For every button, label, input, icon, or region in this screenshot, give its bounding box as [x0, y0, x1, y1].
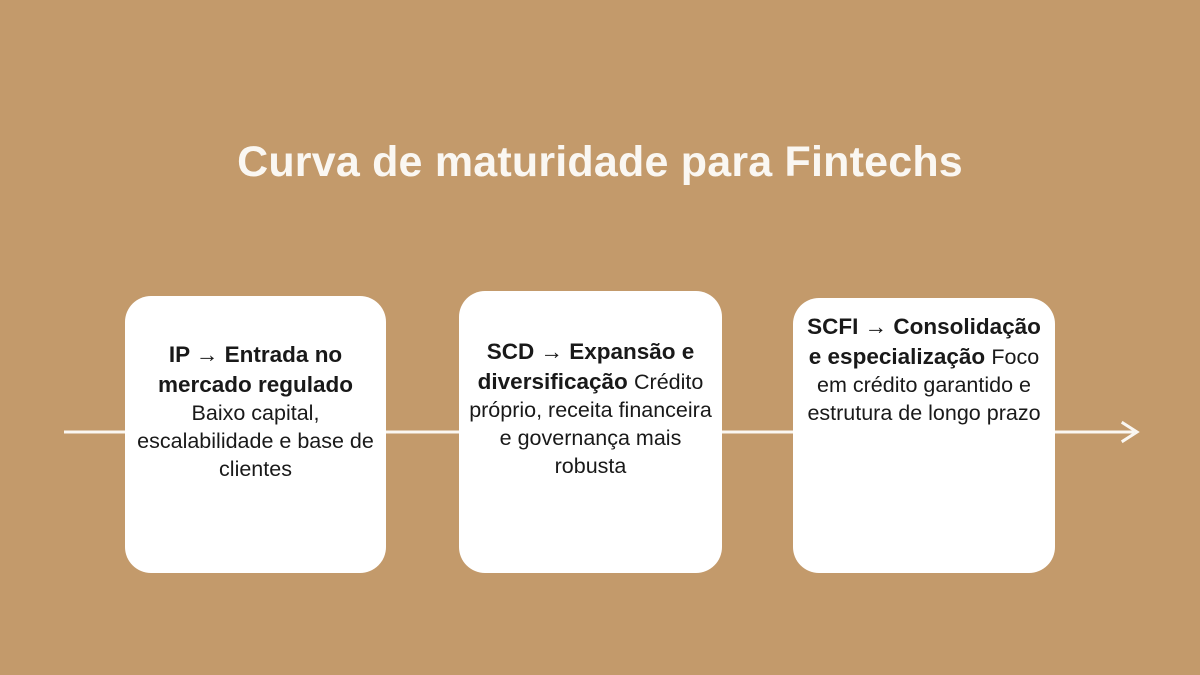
stage-card-scfi[interactable]: SCFI → Consolidação e especialização Foc…: [793, 298, 1055, 573]
stage-card-ip[interactable]: IP → Entrada no mercado regulado Baixo c…: [125, 296, 386, 573]
stage-body: Baixo capital, escalabilidade e base de …: [137, 401, 374, 481]
stage-text-block: SCD → Expansão e diversificação Crédito …: [469, 337, 712, 481]
stage-text-block: SCFI → Consolidação e especialização Foc…: [803, 312, 1045, 428]
stage-card-scd[interactable]: SCD → Expansão e diversificação Crédito …: [459, 291, 722, 573]
page-title: Curva de maturidade para Fintechs: [0, 138, 1200, 186]
stage-heading: IP → Entrada no mercado regulado: [158, 342, 353, 397]
stage-text-block: IP → Entrada no mercado regulado Baixo c…: [135, 340, 376, 484]
slide-canvas: Curva de maturidade para Fintechs IP → E…: [0, 0, 1200, 675]
